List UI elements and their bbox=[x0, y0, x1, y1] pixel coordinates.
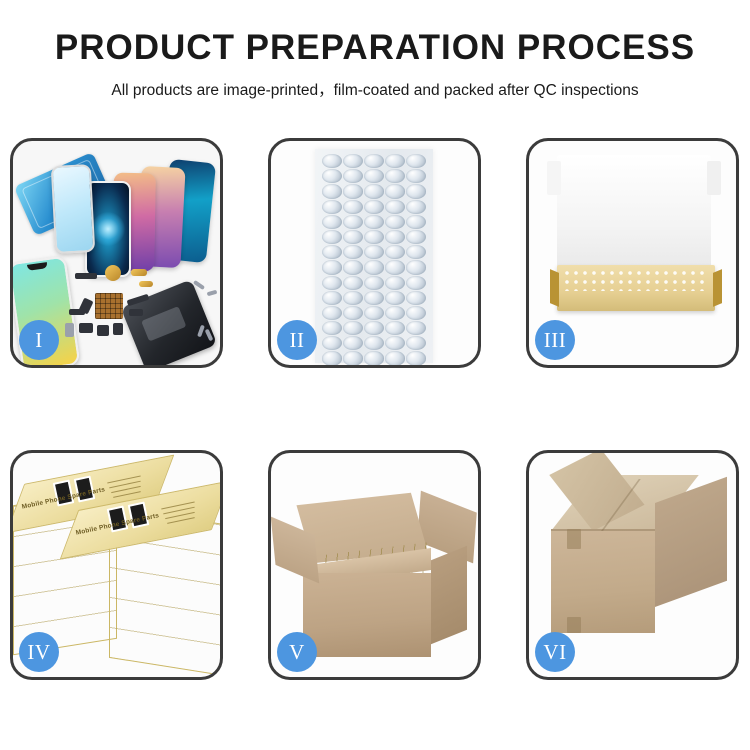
process-step-1[interactable]: I Assorted mobile phone LCD screens, dis… bbox=[10, 138, 223, 368]
bubble-cell bbox=[343, 260, 363, 274]
bubble-wrap-sheet bbox=[315, 149, 433, 363]
bubble-cell bbox=[322, 351, 342, 365]
step-badge-3: III bbox=[535, 320, 575, 360]
bubble-cell bbox=[322, 230, 342, 244]
tray-right-lip bbox=[713, 269, 722, 307]
bubble-cell bbox=[385, 154, 405, 168]
bubble-cell bbox=[406, 230, 426, 244]
bubble-cell bbox=[322, 215, 342, 229]
bubble-cell bbox=[343, 215, 363, 229]
bubble-cell bbox=[343, 276, 363, 290]
tray-bubble-contents bbox=[563, 269, 709, 291]
spare-part-9 bbox=[97, 325, 109, 336]
bubble-cell bbox=[385, 351, 405, 365]
bubble-cell bbox=[385, 200, 405, 214]
bubble-cell bbox=[385, 260, 405, 274]
step-badge-1: I bbox=[19, 320, 59, 360]
bubble-cell bbox=[364, 351, 384, 365]
bubble-grid bbox=[322, 154, 426, 359]
bubble-cell bbox=[322, 336, 342, 350]
bubble-cell bbox=[322, 245, 342, 259]
bubble-cell bbox=[406, 169, 426, 183]
bubble-cell bbox=[385, 291, 405, 305]
page-subtitle: All products are image-printed，film-coat… bbox=[0, 78, 750, 100]
bubble-cell bbox=[322, 260, 342, 274]
carton-front-panel bbox=[303, 573, 431, 657]
bubble-cell bbox=[364, 260, 384, 274]
spare-part-8 bbox=[79, 323, 93, 333]
bubble-cell bbox=[406, 260, 426, 274]
screw-4 bbox=[207, 290, 218, 296]
bubble-cell bbox=[322, 154, 342, 168]
inner-box-tray bbox=[557, 265, 715, 311]
bubble-cell bbox=[385, 184, 405, 198]
bubble-cell bbox=[364, 245, 384, 259]
bubble-cell bbox=[343, 200, 363, 214]
bubble-cell bbox=[343, 336, 363, 350]
phone-screen-e bbox=[51, 164, 96, 254]
bubble-cell bbox=[385, 276, 405, 290]
bubble-cell bbox=[406, 184, 426, 198]
bubble-cell bbox=[385, 245, 405, 259]
bubble-cell bbox=[343, 169, 363, 183]
process-step-5[interactable]: V Boxes loaded into an open brown shippi… bbox=[268, 450, 481, 680]
bubble-cell bbox=[406, 336, 426, 350]
bubble-cell bbox=[343, 230, 363, 244]
box-lid-flap bbox=[557, 155, 711, 271]
bubble-cell bbox=[364, 184, 384, 198]
carton-side-panel bbox=[431, 546, 467, 645]
page-title: PRODUCT PREPARATION PROCESS bbox=[0, 30, 750, 67]
step-badge-5: V bbox=[277, 632, 317, 672]
bubble-cell bbox=[406, 291, 426, 305]
bubble-cell bbox=[385, 306, 405, 320]
bubble-cell bbox=[385, 169, 405, 183]
bubble-cell bbox=[322, 306, 342, 320]
bubble-cell bbox=[385, 336, 405, 350]
bubble-cell bbox=[385, 321, 405, 335]
bubble-cell bbox=[364, 154, 384, 168]
bubble-cell bbox=[343, 351, 363, 365]
spare-part-6 bbox=[129, 309, 143, 316]
step-badge-6: VI bbox=[535, 632, 575, 672]
carton-tape-tab-lower bbox=[567, 617, 581, 633]
spare-part-2 bbox=[131, 269, 147, 276]
bubble-cell bbox=[364, 169, 384, 183]
bubble-cell bbox=[322, 169, 342, 183]
bubble-cell bbox=[364, 321, 384, 335]
bubble-cell bbox=[343, 321, 363, 335]
bubble-cell bbox=[343, 184, 363, 198]
process-step-grid: I Assorted mobile phone LCD screens, dis… bbox=[10, 138, 740, 680]
process-step-4[interactable]: Mobile Phone Spare Parts Mobile Phone Sp… bbox=[10, 450, 223, 680]
step-badge-2: II bbox=[277, 320, 317, 360]
spare-part-3 bbox=[139, 281, 153, 287]
phone-back-housing bbox=[121, 279, 218, 365]
spare-part-7 bbox=[65, 323, 74, 337]
bubble-cell bbox=[385, 215, 405, 229]
tray-left-lip bbox=[550, 269, 559, 307]
page-header: PRODUCT PREPARATION PROCESS All products… bbox=[0, 0, 750, 100]
process-step-3[interactable]: III Bubble-wrapped items placed inside a… bbox=[526, 138, 739, 368]
spare-part-10 bbox=[113, 323, 123, 335]
bubble-cell bbox=[406, 351, 426, 365]
bubble-cell bbox=[364, 306, 384, 320]
process-step-2[interactable]: II Product wrapped in bubble wrap film bbox=[268, 138, 481, 368]
bubble-cell bbox=[322, 200, 342, 214]
bubble-cell bbox=[322, 291, 342, 305]
bubble-cell bbox=[343, 245, 363, 259]
process-step-6[interactable]: VI Sealed and taped brown shipping carto… bbox=[526, 450, 739, 680]
bubble-cell bbox=[385, 230, 405, 244]
bubble-cell bbox=[364, 291, 384, 305]
bubble-cell bbox=[406, 306, 426, 320]
bubble-cell bbox=[343, 306, 363, 320]
bubble-cell bbox=[364, 230, 384, 244]
carton-tape-tab-upper bbox=[567, 529, 581, 549]
bubble-cell bbox=[322, 276, 342, 290]
spare-part-5 bbox=[69, 309, 85, 315]
connector-chip-icon bbox=[95, 293, 123, 319]
bubble-cell bbox=[322, 321, 342, 335]
spare-part-camera-ring bbox=[105, 265, 121, 281]
bubble-cell bbox=[406, 245, 426, 259]
bubble-cell bbox=[364, 215, 384, 229]
bubble-cell bbox=[343, 291, 363, 305]
bubble-cell bbox=[322, 184, 342, 198]
bubble-cell bbox=[406, 276, 426, 290]
bubble-cell bbox=[406, 154, 426, 168]
bubble-cell bbox=[364, 200, 384, 214]
bubble-cell bbox=[406, 215, 426, 229]
bubble-cell bbox=[406, 200, 426, 214]
bubble-cell bbox=[406, 321, 426, 335]
spare-part-1 bbox=[75, 273, 97, 279]
bubble-cell bbox=[364, 336, 384, 350]
bubble-cell bbox=[343, 154, 363, 168]
step-badge-4: IV bbox=[19, 632, 59, 672]
bubble-cell bbox=[364, 276, 384, 290]
